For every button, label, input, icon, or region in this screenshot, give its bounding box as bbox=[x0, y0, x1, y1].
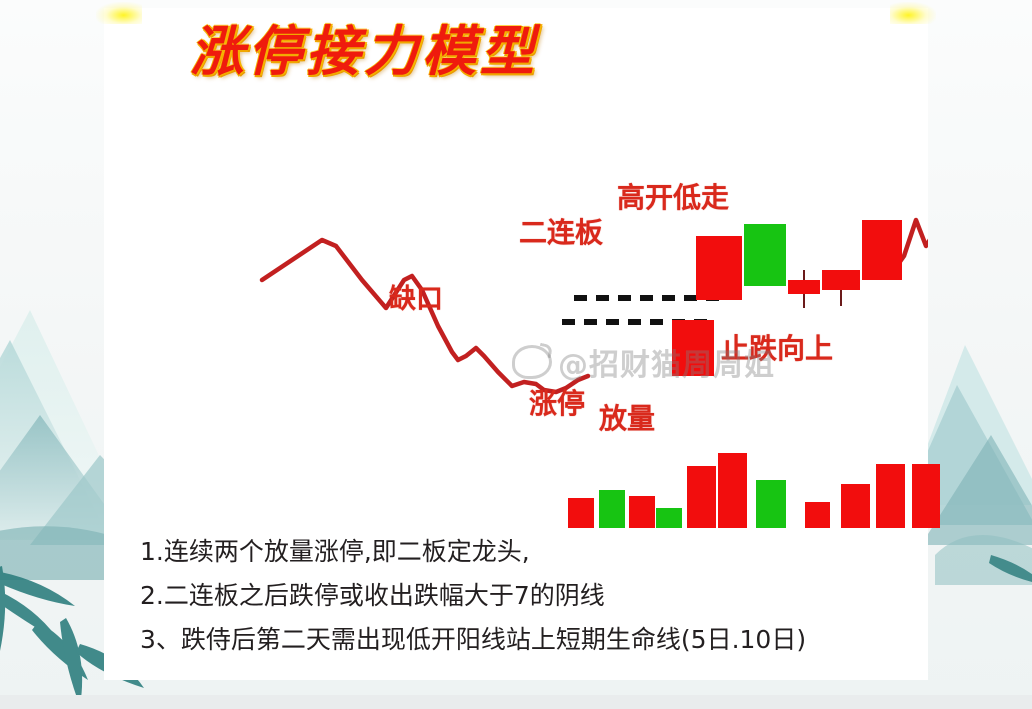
volume-bar bbox=[656, 508, 682, 528]
volume-bar bbox=[841, 484, 870, 528]
candle-body bbox=[672, 320, 714, 376]
candle-body bbox=[696, 236, 742, 300]
candlestick bbox=[822, 270, 860, 306]
volume-bar bbox=[629, 496, 655, 528]
candlestick bbox=[744, 224, 786, 286]
label-volume-expansion: 放量 bbox=[599, 397, 655, 437]
label-stop-falling: 止跌向上 bbox=[721, 327, 833, 367]
candlestick bbox=[672, 320, 714, 376]
volume-bar bbox=[912, 464, 940, 528]
notes-block: 1.连续两个放量涨停,即二板定龙头, 2.二连板之后跌停或收出跌幅大于7的阴线 … bbox=[140, 530, 930, 662]
note-line-1: 1.连续两个放量涨停,即二板定龙头, bbox=[140, 530, 930, 574]
volume-bar bbox=[718, 453, 747, 528]
volume-bar bbox=[568, 498, 594, 528]
volume-bar bbox=[876, 464, 905, 528]
label-limit-up: 涨停 bbox=[529, 382, 585, 422]
candle-body bbox=[862, 220, 902, 280]
note-line-3: 3、跌侍后第二天需出现低开阳线站上短期生命线(5日.10日) bbox=[140, 618, 930, 662]
candlestick bbox=[696, 236, 742, 300]
candlestick bbox=[788, 270, 820, 308]
volume-bar bbox=[756, 480, 786, 528]
candle-body bbox=[788, 280, 820, 294]
volume-bar bbox=[599, 490, 625, 528]
volume-bar-layer bbox=[104, 408, 928, 528]
note-cutoff-text: ...... bbox=[760, 658, 796, 669]
volume-bar bbox=[687, 466, 716, 528]
downtrend-polyline bbox=[262, 240, 588, 392]
volume-bar bbox=[805, 502, 830, 528]
label-gap: 缺口 bbox=[389, 277, 443, 316]
candle-body bbox=[744, 224, 786, 286]
label-second-board: 二连板 bbox=[519, 211, 603, 251]
screenshot-root: 涨停接力模型 缺口 涨停 二连板 高开低走 放量 止跌向上 @招财猫周周姐 1.… bbox=[0, 0, 1032, 709]
candle-body bbox=[822, 270, 860, 290]
bottom-strip bbox=[0, 695, 1032, 709]
candlestick bbox=[862, 220, 902, 280]
note-line-2: 2.二连板之后跌停或收出跌幅大于7的阴线 bbox=[140, 574, 930, 618]
label-high-open-low-close: 高开低走 bbox=[617, 176, 729, 216]
gap-dashed-lines bbox=[562, 298, 726, 322]
